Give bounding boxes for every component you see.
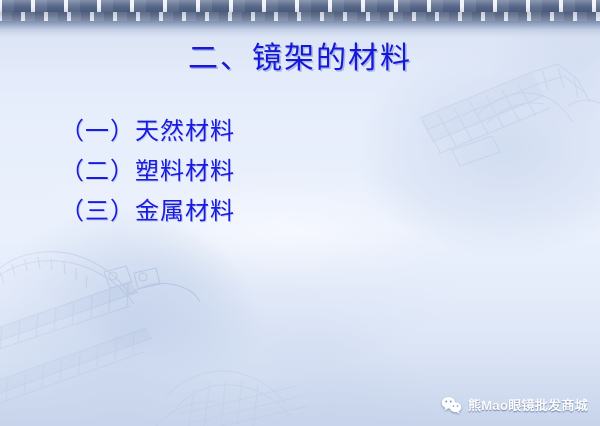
brick-border-band — [0, 0, 600, 21]
bullet-item-3: （三）金属材料 — [60, 192, 500, 232]
watermark-text: 熊Mao眼镜批发商城 — [468, 395, 588, 414]
background-architecture-artwork-left — [0, 236, 310, 426]
presentation-slide: 二、镜架的材料 （一）天然材料 （二）塑料材料 （三）金属材料 熊Mao眼镜批发… — [0, 0, 600, 426]
slide-bullet-list: （一）天然材料 （二）塑料材料 （三）金属材料 — [60, 112, 500, 232]
bullet-item-2: （二）塑料材料 — [60, 152, 500, 192]
watermark: 熊Mao眼镜批发商城 — [441, 395, 588, 414]
wechat-icon — [441, 396, 462, 414]
brick-gloss-overlay — [0, 0, 600, 21]
bullet-item-1: （一）天然材料 — [60, 112, 500, 152]
slide-title: 二、镜架的材料 — [0, 39, 600, 79]
brick-band-shadow — [0, 21, 600, 37]
